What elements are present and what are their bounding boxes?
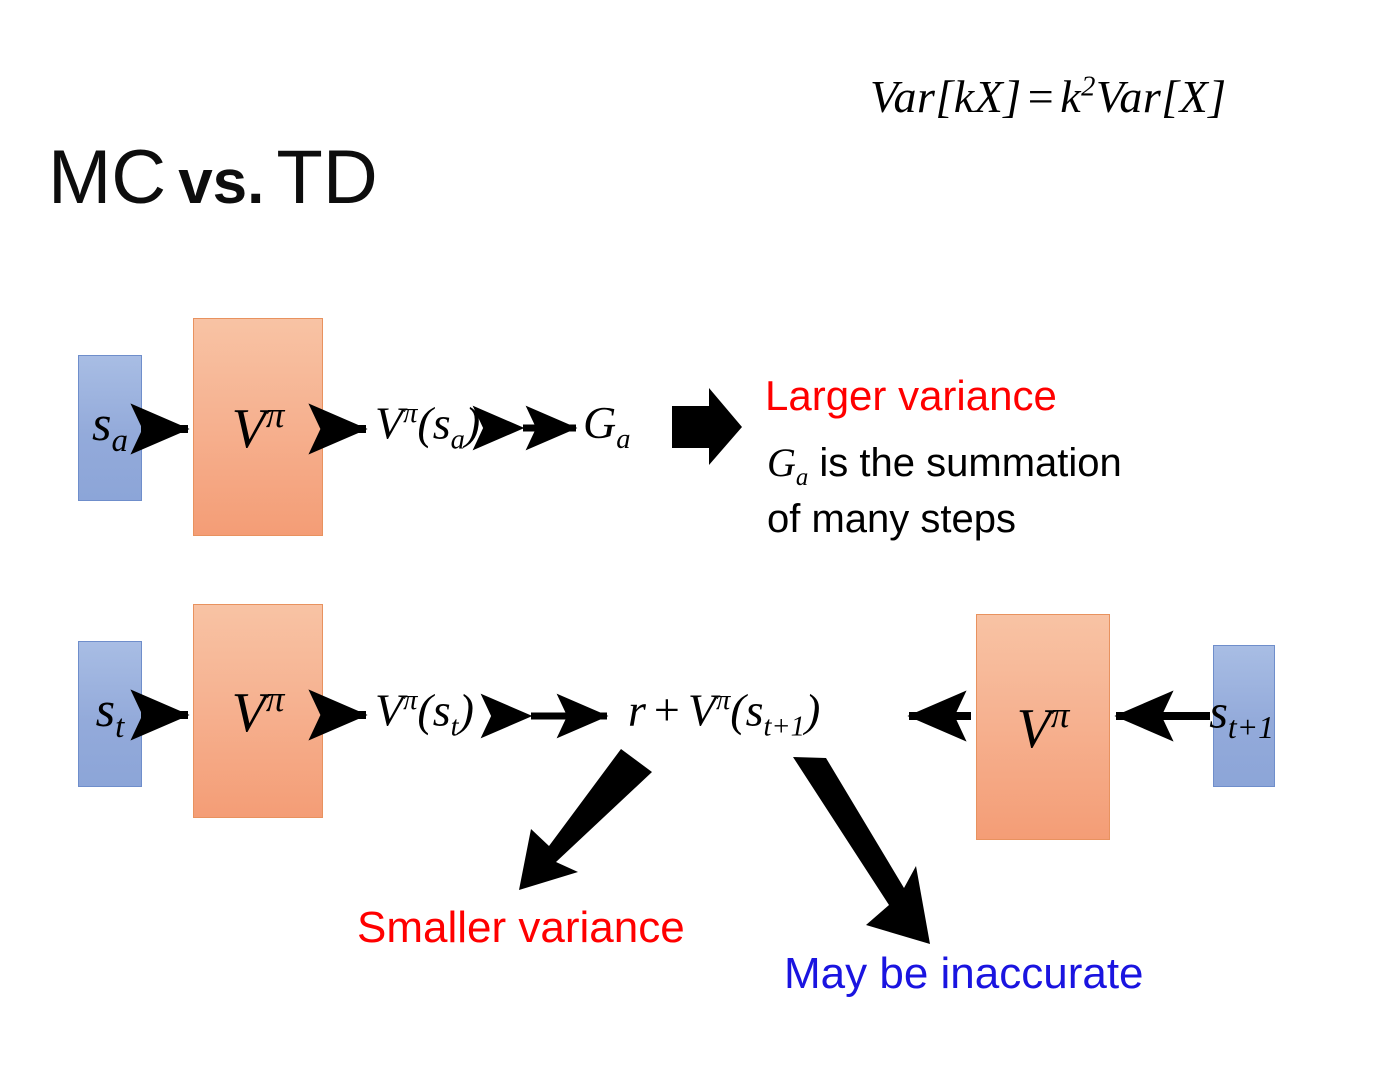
mc-callout-detail-line1: Ga is the summation: [767, 438, 1122, 494]
formula-rhs-exponent: 2: [1081, 72, 1096, 103]
formula-lhs-var: Var: [870, 71, 935, 122]
mc-expression-left: Vπ(sa): [375, 400, 480, 455]
mc-expression-right: Ga: [583, 400, 631, 455]
td-expression-right: r+Vπ(st+1): [628, 687, 820, 742]
td-callout-may-be-inaccurate: May be inaccurate: [784, 946, 1144, 1001]
mc-value-function-label: Vπ: [232, 397, 285, 457]
td-value-function-label-right: Vπ: [1017, 697, 1070, 757]
td-expression-left: Vπ(st): [375, 687, 474, 742]
mc-callout-detail-line2: of many steps: [767, 494, 1016, 544]
mc-state-box: sa: [78, 355, 142, 501]
page-title: MCvs.TD: [48, 140, 378, 216]
td-callout-smaller-variance: Smaller variance: [357, 900, 685, 955]
mc-callout-headline: Larger variance: [765, 370, 1057, 423]
td-value-function-label-left: Vπ: [232, 681, 285, 741]
formula-lhs-arg: [kX]: [935, 71, 1021, 122]
block-arrow-down-right-icon: [793, 757, 930, 944]
formula-rhs-k: k: [1060, 71, 1081, 122]
td-value-function-box-right: Vπ: [976, 614, 1110, 840]
formula-rhs-var: Var: [1096, 71, 1161, 122]
title-vs: vs.: [166, 148, 276, 217]
block-arrow-right-icon: [672, 388, 742, 465]
mc-callout-symbol: Ga: [767, 440, 808, 485]
title-mc: MC: [48, 135, 166, 220]
title-td: TD: [276, 135, 377, 220]
formula-rhs-arg: [X]: [1161, 71, 1226, 122]
td-next-state-box: st+1: [1213, 645, 1275, 787]
slide-canvas: Var[kX]=k2Var[X] MCvs.TD sa Vπ Vπ(sa) Ga…: [0, 0, 1390, 1076]
block-arrow-down-left-icon: [519, 749, 652, 890]
td-state-box: st: [78, 641, 142, 787]
mc-state-label: sa: [92, 398, 128, 458]
formula-equals: =: [1022, 71, 1060, 122]
mc-callout-detail-rest: is the summation: [808, 441, 1121, 485]
td-next-state-label: st+1: [1209, 688, 1274, 743]
variance-identity-formula: Var[kX]=k2Var[X]: [870, 70, 1227, 123]
mc-value-function-box: Vπ: [193, 318, 323, 536]
td-state-label: st: [96, 684, 125, 744]
td-value-function-box-left: Vπ: [193, 604, 323, 818]
